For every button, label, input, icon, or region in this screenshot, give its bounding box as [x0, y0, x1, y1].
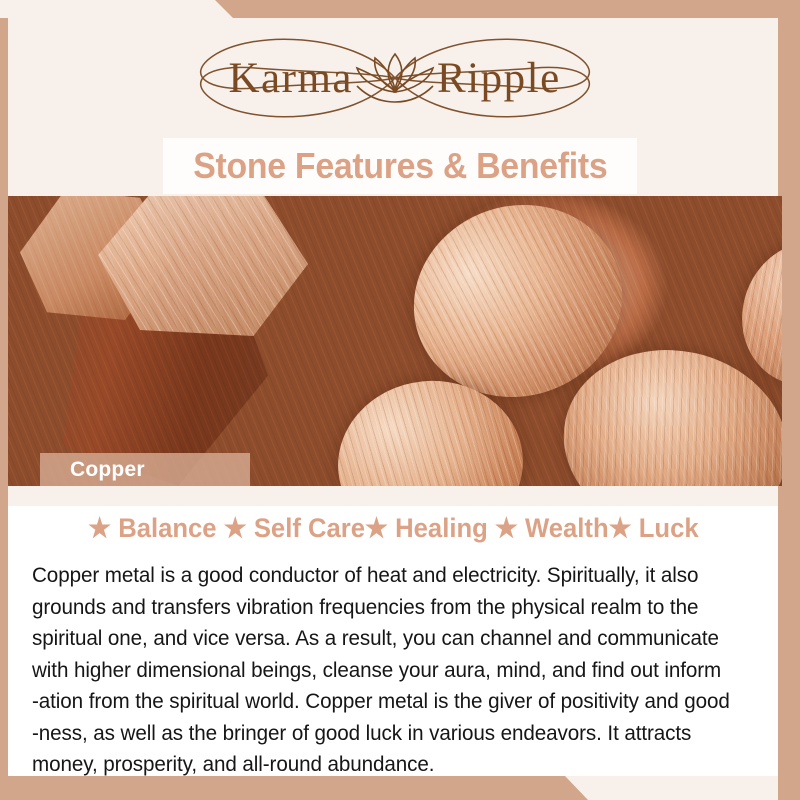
top-accent-band [0, 0, 800, 18]
hero-caption-bar: Copper [40, 453, 250, 486]
brand-logo: Karma Ripple [0, 26, 790, 130]
copper-photo [8, 196, 782, 486]
hero-caption-label: Copper [70, 458, 145, 482]
page-title: Stone Features & Benefits [193, 145, 607, 187]
left-accent-band [0, 18, 8, 776]
infographic-page: Karma Ripple Stone Features & Benefits C… [0, 0, 800, 800]
description-text: Copper metal is a good conductor of heat… [32, 560, 737, 781]
description-panel: Copper metal is a good conductor of heat… [8, 550, 778, 776]
photo-vignette [8, 196, 782, 486]
logo-word-left: Karma [229, 55, 354, 102]
title-banner: Stone Features & Benefits [163, 138, 637, 194]
logo-svg: Karma Ripple [85, 26, 705, 130]
feature-list-line: ★ Balance ★ Self Care★ Healing ★ Wealth★… [88, 513, 699, 544]
hero-image [8, 196, 782, 486]
logo-word-right: Ripple [437, 55, 561, 102]
feature-list: ★ Balance ★ Self Care★ Healing ★ Wealth★… [8, 506, 778, 550]
